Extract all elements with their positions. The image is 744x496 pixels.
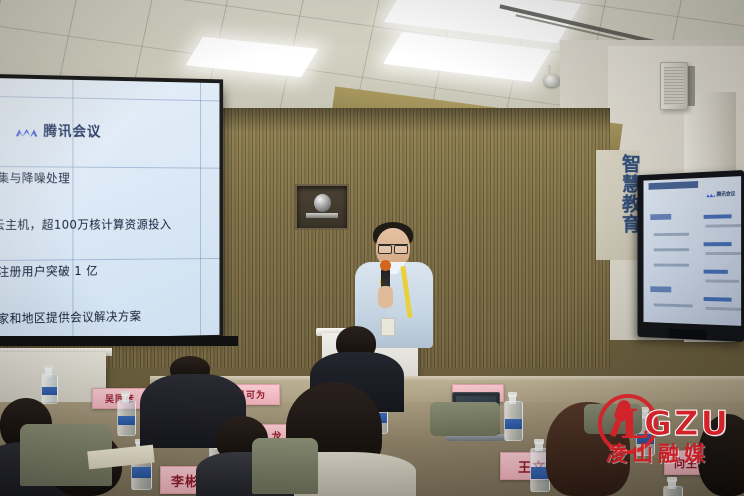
tv-section-tag xyxy=(650,214,671,220)
tv-bullet-heading xyxy=(704,214,732,219)
eyeglasses-icon xyxy=(378,244,408,252)
chair-back xyxy=(252,438,318,494)
tv-bullet-heading xyxy=(704,242,732,246)
tv-stand xyxy=(669,329,707,340)
tv-table-row xyxy=(654,233,689,236)
chair-back xyxy=(430,402,500,436)
tv-bullet-heading xyxy=(704,297,732,302)
bottle-label xyxy=(637,434,654,445)
bottle-body xyxy=(663,486,683,496)
tv-brand-logo: 腾讯会议 xyxy=(706,190,735,198)
projection-screen: 腾讯会议 研发： 语音收集与降噪处理 投放： 0万台云主机，超100万核计算资源… xyxy=(0,78,219,340)
tv-bullet-heading xyxy=(704,270,728,274)
water-bottle xyxy=(663,478,681,496)
tv-bullet-body xyxy=(705,224,741,228)
projection-screen-frame xyxy=(0,336,238,346)
bottle-body xyxy=(504,401,523,441)
tencent-meeting-icon xyxy=(706,192,714,197)
trophy-base xyxy=(306,213,338,218)
bottle-label xyxy=(505,419,522,430)
display-niche xyxy=(295,184,349,230)
bottle-label xyxy=(42,387,57,395)
water-bottle xyxy=(41,366,56,404)
tv-table-row xyxy=(654,264,689,267)
wall-sign-panel: 智慧教育 xyxy=(596,150,640,260)
loudspeaker-grill xyxy=(664,67,684,105)
wall-loudspeaker xyxy=(660,62,688,110)
chair-back xyxy=(584,404,642,434)
screenshot-root: 智慧教育 腾讯会议 研发： 语音收集与降噪处理 投放： 0万台云主机，超100万… xyxy=(0,0,744,496)
water-bottle xyxy=(504,393,521,441)
tv-screen-content: 腾讯会议 xyxy=(643,176,741,326)
tv-brand-text: 腾讯会议 xyxy=(717,190,736,198)
id-badge xyxy=(381,318,395,336)
bottle-label xyxy=(118,416,135,426)
tv-title-bar xyxy=(649,181,699,190)
tv-bullet-body xyxy=(705,279,739,282)
security-camera-icon xyxy=(544,74,560,87)
tv-section-tag xyxy=(650,286,671,292)
tv-bullet-body xyxy=(705,307,741,311)
bottle-body xyxy=(41,374,58,404)
tv-table-row xyxy=(654,248,689,251)
bottle-label xyxy=(132,467,151,478)
bottle-body xyxy=(117,400,136,436)
wall-mounted-tv: 腾讯会议 xyxy=(637,170,744,342)
tv-bullet-body xyxy=(705,252,741,255)
wall-sign-text: 智慧教育 xyxy=(597,154,639,258)
trophy-icon xyxy=(314,194,331,212)
audience-head xyxy=(698,414,744,496)
water-bottle xyxy=(117,392,134,436)
screen-glare xyxy=(0,78,219,340)
presenter-hand xyxy=(378,286,393,308)
tv-table-row xyxy=(654,303,693,307)
